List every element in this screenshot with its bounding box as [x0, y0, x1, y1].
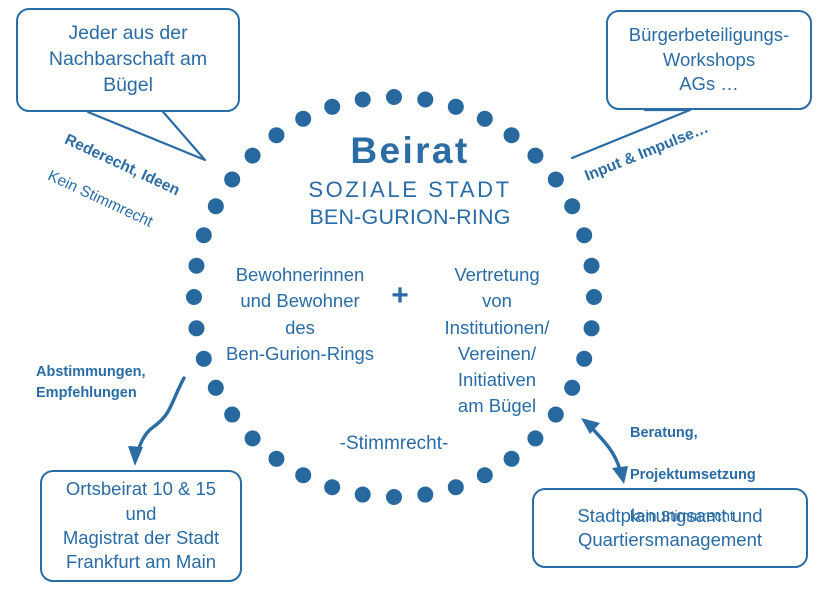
- ring-dot: [268, 451, 284, 467]
- ring-dot: [188, 258, 204, 274]
- member-group-residents: Bewohnerinnen und Bewohner des Ben-Gurio…: [212, 262, 388, 367]
- ring-dot: [477, 467, 493, 483]
- ring-dot: [584, 258, 600, 274]
- annotation-abstimmungen-empfehlungen: Abstimmungen, Empfehlungen: [36, 362, 214, 404]
- ring-dot: [355, 91, 371, 107]
- ring-dot: [386, 89, 402, 105]
- ring-dot: [417, 91, 433, 107]
- member-group-institutions: Vertretung von Institutionen/ Vereinen/ …: [412, 262, 582, 420]
- ring-dot: [386, 489, 402, 505]
- ring-dot: [295, 467, 311, 483]
- ring-dot: [527, 430, 543, 446]
- ring-dot: [188, 320, 204, 336]
- ring-dot: [504, 451, 520, 467]
- ring-dot: [448, 99, 464, 115]
- ring-dot: [324, 99, 340, 115]
- ring-dot: [324, 479, 340, 495]
- plus-icon: +: [386, 278, 414, 315]
- ring-dot: [477, 111, 493, 127]
- diagram-canvas: Jeder aus der Nachbarschaft am Bügel Bür…: [0, 0, 820, 600]
- annotation-beratung-projektumsetzung: Beratung, Projektumsetzung kein Stimmrec…: [630, 402, 810, 549]
- ring-dot: [295, 111, 311, 127]
- ring-dot: [584, 320, 600, 336]
- ring-dot: [586, 289, 602, 305]
- ring-dot: [448, 479, 464, 495]
- bubble-neighborhood[interactable]: Jeder aus der Nachbarschaft am Bügel: [16, 8, 240, 112]
- ring-dot: [355, 487, 371, 503]
- ring-dot: [245, 430, 261, 446]
- bubble-ortsbeirat-magistrat[interactable]: Ortsbeirat 10 & 15 und Magistrat der Sta…: [40, 470, 242, 582]
- annotation-beratung-line2: Projektumsetzung: [630, 465, 810, 486]
- ring-dot: [224, 407, 240, 423]
- annotation-beratung-line3: kein Stimmrecht: [630, 507, 810, 528]
- voting-rights-note: -Stimmrecht-: [294, 432, 494, 455]
- bubble-participation[interactable]: Bürgerbeteiligungs- Workshops AGs …: [606, 10, 812, 110]
- ring-dot: [186, 289, 202, 305]
- ring-dot: [417, 487, 433, 503]
- arrow-beratung: [581, 418, 628, 484]
- annotation-beratung-line1: Beratung,: [630, 423, 810, 444]
